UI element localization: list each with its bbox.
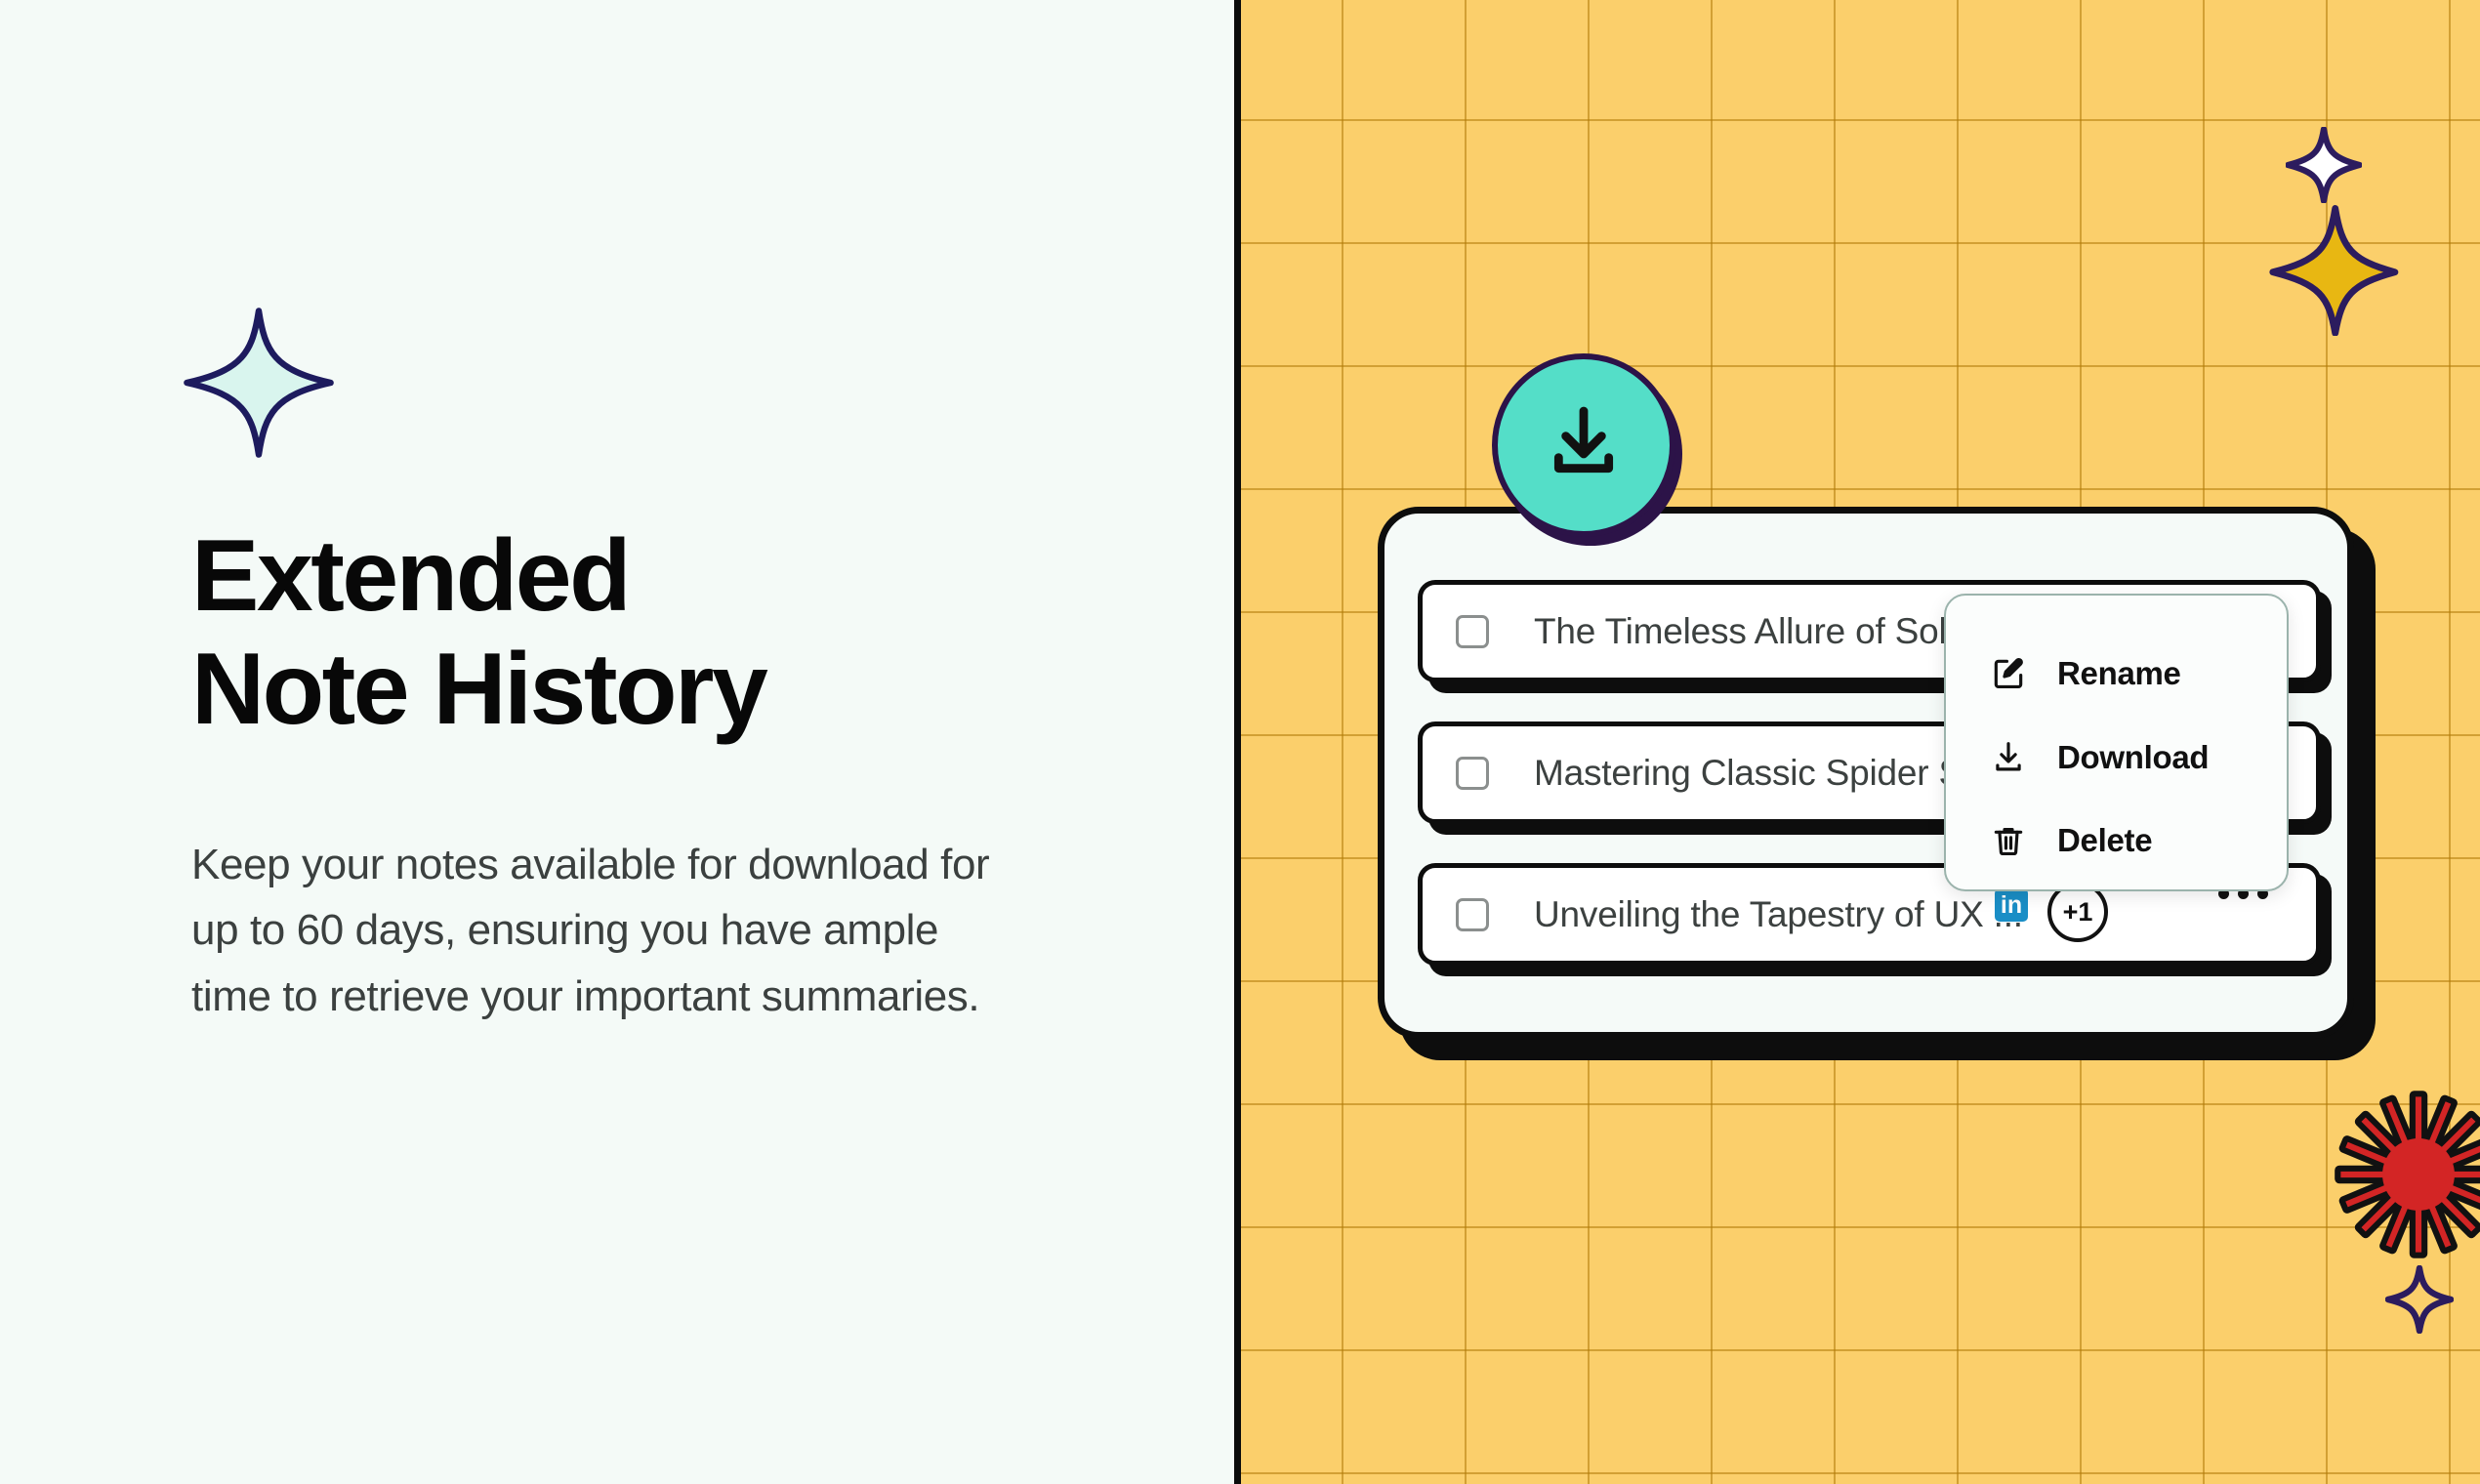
headline-line-2: Note History xyxy=(191,633,1070,746)
note-context-menu: Rename Download xyxy=(1944,594,2289,891)
promo-slide: Extended Note History Keep your notes av… xyxy=(0,0,2480,1484)
menu-item-label: Delete xyxy=(2057,822,2152,859)
linkedin-share-icon[interactable]: in xyxy=(1995,888,2028,922)
starburst-red-icon xyxy=(2333,1089,2480,1260)
note-checkbox[interactable] xyxy=(1456,757,1489,790)
menu-item-rename[interactable]: Rename xyxy=(1989,651,2181,696)
headline-line-1: Extended xyxy=(191,519,629,633)
menu-item-delete[interactable]: Delete xyxy=(1989,818,2152,863)
left-content-panel: Extended Note History Keep your notes av… xyxy=(0,0,1241,1484)
trash-icon xyxy=(1989,821,2028,860)
note-checkbox[interactable] xyxy=(1456,898,1489,931)
sparkle-gold-icon xyxy=(2266,203,2399,336)
download-fab-button[interactable] xyxy=(1492,353,1675,537)
note-checkbox[interactable] xyxy=(1456,615,1489,648)
sparkle-white-icon xyxy=(2286,127,2362,203)
sparkle-small-outline-icon xyxy=(2385,1265,2454,1334)
note-title: Mastering Classic Spider Sol xyxy=(1534,753,1990,794)
edit-square-icon xyxy=(1989,654,2028,693)
page-title: Extended Note History xyxy=(191,519,1070,747)
download-icon xyxy=(1989,738,2028,777)
download-icon xyxy=(1541,400,1627,491)
linkedin-label: in xyxy=(2001,893,2022,918)
note-title: The Timeless Allure of Solitai xyxy=(1534,611,1992,652)
body-description: Keep your notes available for download f… xyxy=(191,832,1002,1029)
menu-item-label: Download xyxy=(2057,739,2209,776)
menu-item-download[interactable]: Download xyxy=(1989,735,2209,780)
note-title: Unveiling the Tapestry of UX ... xyxy=(1534,894,2023,935)
more-collaborators-count: +1 xyxy=(2063,897,2093,927)
menu-item-label: Rename xyxy=(2057,655,2181,692)
sparkle-four-point-icon xyxy=(181,305,337,461)
